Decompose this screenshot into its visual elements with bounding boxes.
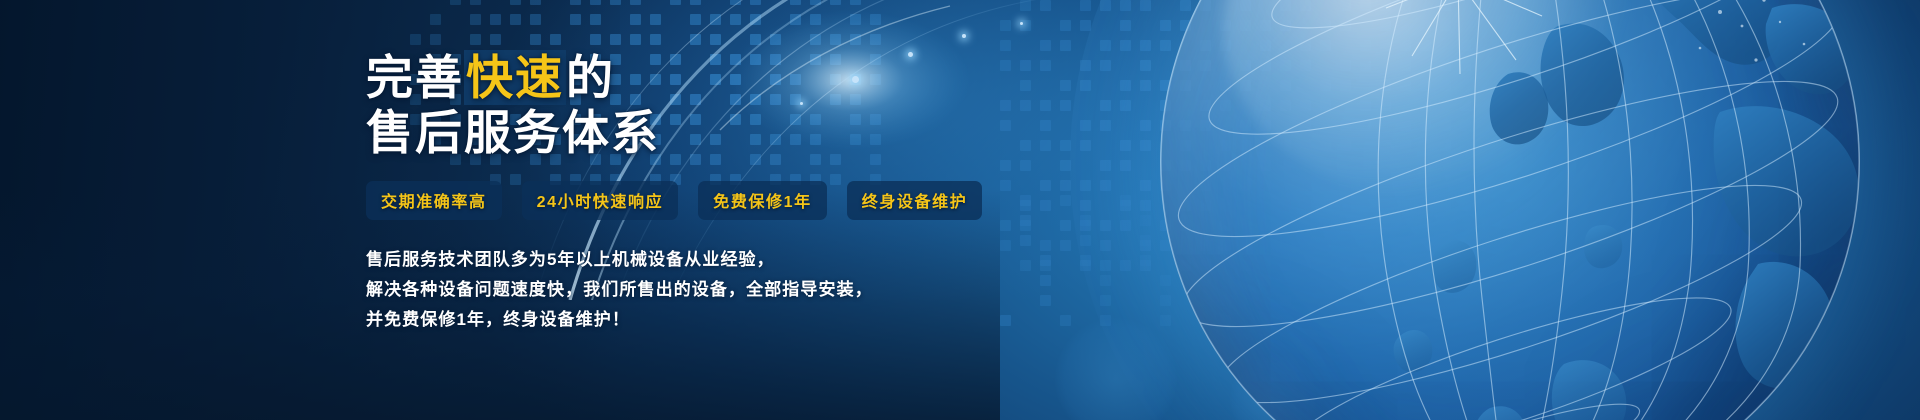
feature-badge[interactable]: 终身设备维护: [847, 181, 983, 220]
headline-line-1: 完善快速的: [366, 54, 1006, 103]
headline-text-part2: 的: [566, 51, 615, 104]
headline: 完善快速的 售后服务体系: [366, 54, 1006, 158]
description-line: 解决各种设备问题速度快，我们所售出的设备，全部指导安装，: [366, 275, 1006, 305]
feature-badge[interactable]: 交期准确率高: [366, 181, 502, 220]
feature-badge[interactable]: 免费保修1年: [698, 181, 827, 220]
description-line: 售后服务技术团队多为5年以上机械设备从业经验，: [366, 245, 1006, 275]
banner-content: 完善快速的 售后服务体系 交期准确率高 24小时快速响应 免费保修1年 终身设备…: [366, 54, 1006, 336]
headline-text-part1: 完善: [366, 51, 464, 104]
headline-accent-text: 快速: [464, 50, 566, 105]
feature-badge[interactable]: 24小时快速响应: [522, 181, 679, 220]
after-sales-service-banner: 完善快速的 售后服务体系 交期准确率高 24小时快速响应 免费保修1年 终身设备…: [0, 0, 1920, 420]
feature-badge-list: 交期准确率高 24小时快速响应 免费保修1年 终身设备维护: [366, 181, 1006, 220]
description-paragraph: 售后服务技术团队多为5年以上机械设备从业经验， 解决各种设备问题速度快，我们所售…: [366, 245, 1006, 336]
description-line: 并免费保修1年，终身设备维护！: [366, 305, 1006, 335]
headline-line-2: 售后服务体系: [366, 109, 1006, 158]
